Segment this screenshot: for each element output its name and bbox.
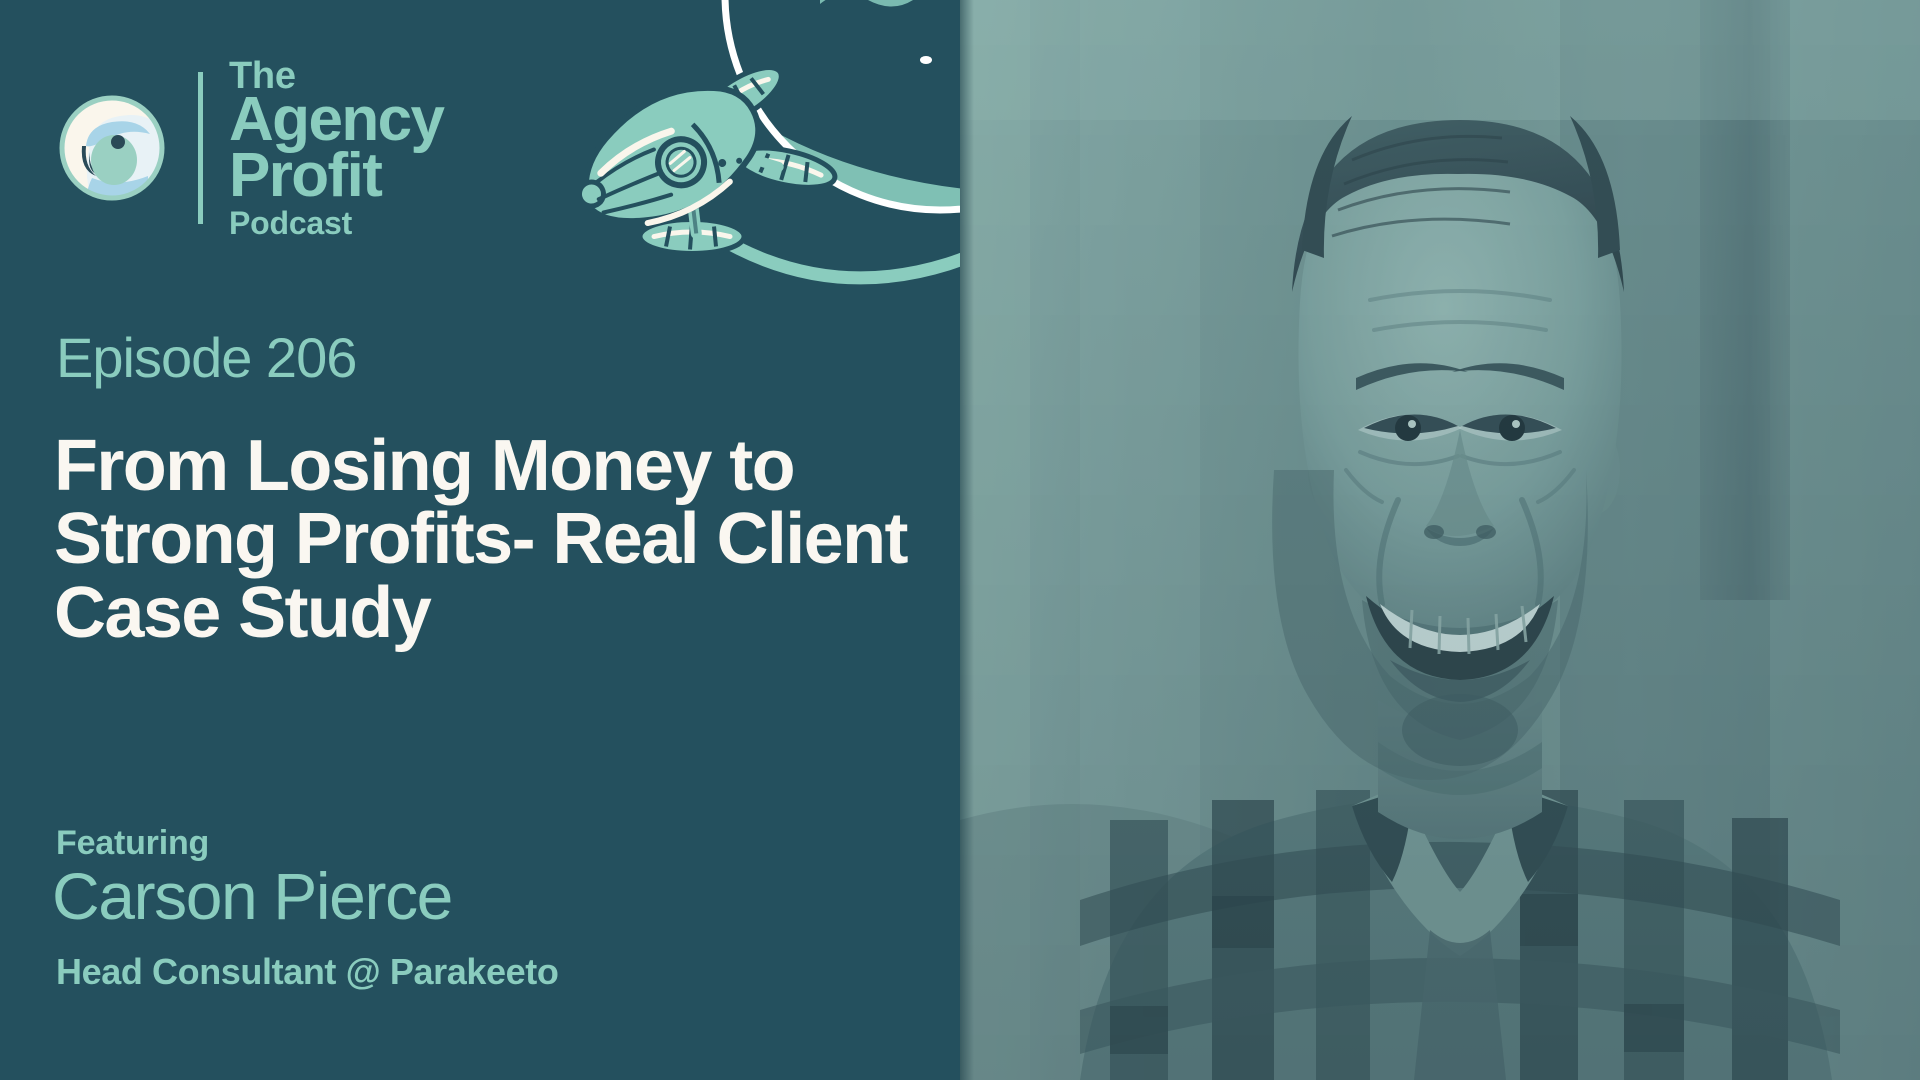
guest-role: Head Consultant @ Parakeeto (56, 954, 558, 990)
rocket-trail-icon (716, 178, 960, 278)
brand-divider-rule (198, 72, 203, 224)
guest-name: Carson Pierce (52, 862, 452, 931)
rocket-ship-icon (556, 37, 856, 309)
photo-panel-edge-shadow (960, 0, 974, 1080)
brand-line-profit: Profit (229, 146, 443, 206)
space-illustration-svg (520, 0, 960, 320)
podcast-episode-cover: The Agency Profit Podcast Episode 206 Fr… (0, 0, 1920, 1080)
parakeet-bird-logo-icon (56, 92, 168, 204)
featuring-label: Featuring (56, 826, 209, 860)
brand-line-podcast: Podcast (229, 208, 443, 239)
episode-title: From Losing Money to Strong Profits- Rea… (54, 430, 914, 650)
space-illustration (520, 0, 960, 320)
planet-globe-icon (674, 0, 960, 225)
left-info-panel: The Agency Profit Podcast Episode 206 Fr… (0, 0, 960, 1080)
episode-number-label: Episode 206 (56, 330, 356, 386)
brand-wordmark: The Agency Profit Podcast (229, 58, 443, 238)
guest-photo-panel (960, 0, 1920, 1080)
brand-lockup: The Agency Profit Podcast (56, 58, 443, 238)
photo-duotone-overlay (960, 0, 1920, 1080)
